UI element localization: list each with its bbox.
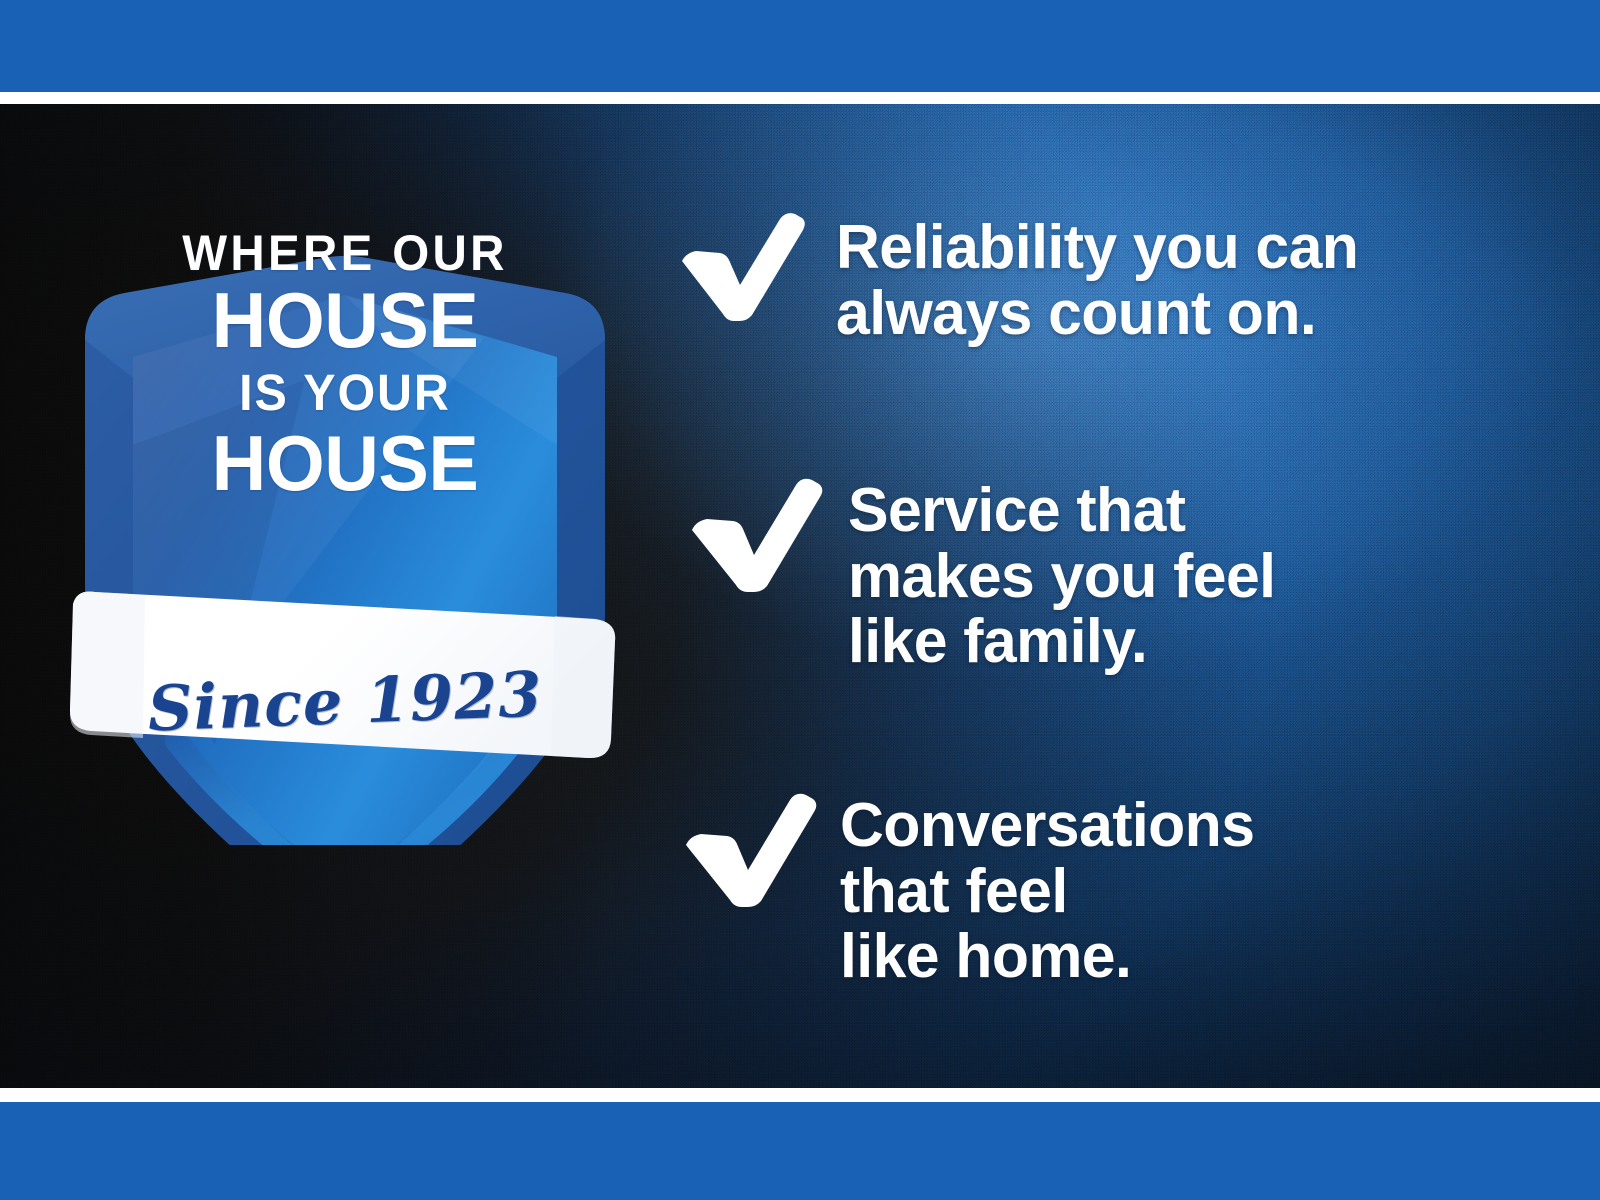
shield-badge: WHERE OUR HOUSE IS YOUR HOUSE Since 1923 bbox=[55, 145, 635, 845]
benefit-line: always count on. bbox=[836, 281, 1358, 347]
benefit-line: like home. bbox=[840, 924, 1254, 990]
benefits-list: Reliability you can always count on. Ser… bbox=[668, 104, 1568, 1088]
benefit-text-conversations: Conversations that feel like home. bbox=[840, 793, 1254, 990]
benefit-line: that feel bbox=[840, 859, 1254, 925]
bottom-white-divider bbox=[0, 1088, 1600, 1102]
benefit-item-conversations: Conversations that feel like home. bbox=[680, 789, 1263, 990]
benefit-item-reliability: Reliability you can always count on. bbox=[676, 209, 1369, 346]
benefit-line: Service that bbox=[848, 478, 1275, 544]
benefit-line: Conversations bbox=[840, 793, 1254, 859]
benefit-line: makes you feel bbox=[848, 544, 1275, 610]
bottom-accent-bar bbox=[0, 1102, 1600, 1200]
benefit-item-service: Service that makes you feel like family. bbox=[686, 474, 1284, 675]
promo-graphic: WHERE OUR HOUSE IS YOUR HOUSE Since 1923… bbox=[0, 0, 1600, 1200]
benefit-line: Reliability you can bbox=[836, 215, 1358, 281]
benefit-text-reliability: Reliability you can always count on. bbox=[836, 215, 1358, 346]
benefit-text-service: Service that makes you feel like family. bbox=[848, 478, 1275, 675]
top-white-divider bbox=[0, 92, 1600, 104]
checkmark-icon bbox=[676, 209, 814, 327]
checkmark-icon bbox=[686, 474, 824, 592]
benefit-line: like family. bbox=[848, 609, 1275, 675]
checkmark-icon bbox=[680, 789, 818, 907]
top-accent-bar bbox=[0, 0, 1600, 92]
